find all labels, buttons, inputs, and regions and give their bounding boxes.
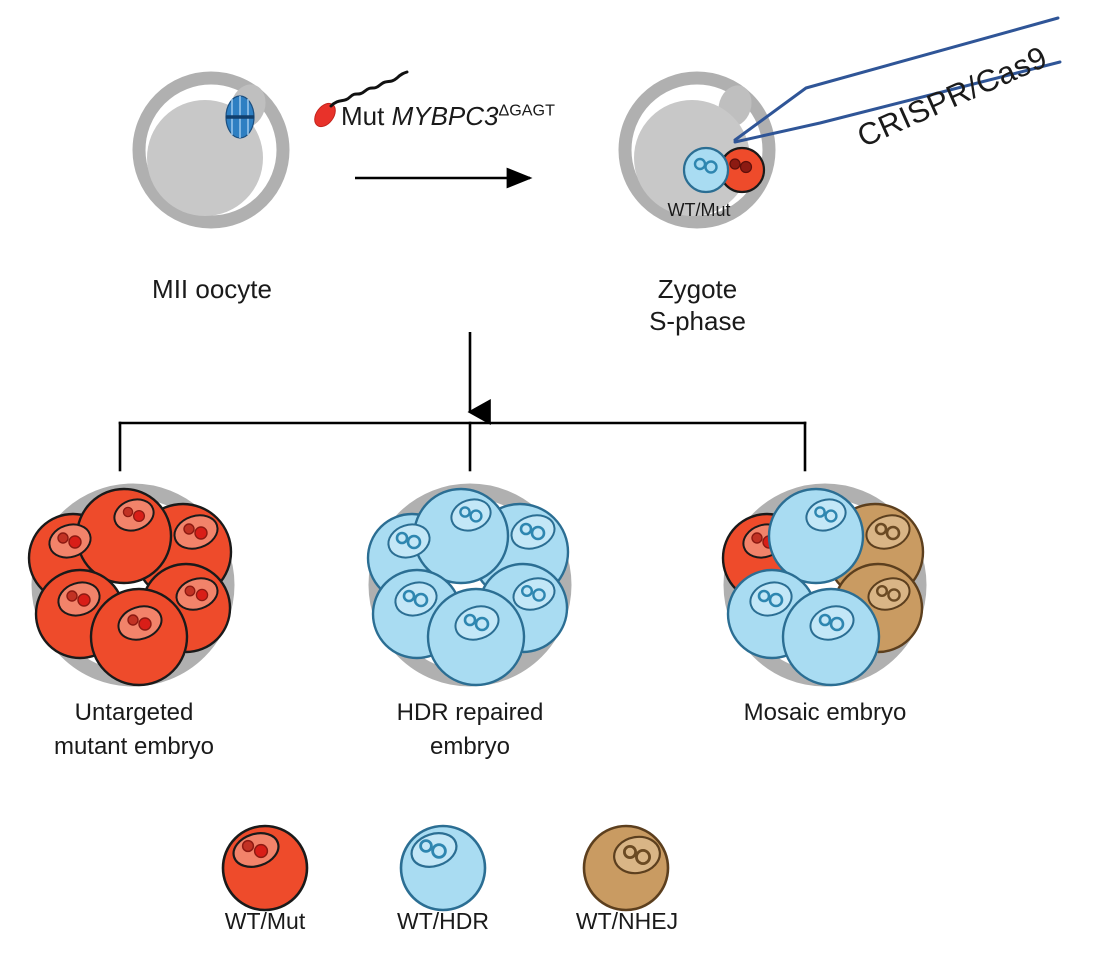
- pronuclei-label: WT/Mut: [634, 200, 764, 221]
- untargeted-caption-line1: Untargeted: [0, 697, 268, 728]
- gene-superscript: ΔGAGT: [499, 101, 555, 119]
- gene-name: MYBPC3: [392, 101, 499, 131]
- figure-canvas: MII oocyte Mut MYBPC3ΔGAGT WT/Mut Zygote…: [0, 0, 1093, 968]
- untargeted-caption-line2: mutant embryo: [0, 731, 268, 762]
- legend-swatch-wt-hdr: [401, 826, 485, 910]
- hdr-caption-line1: HDR repaired: [336, 697, 604, 728]
- embryo-mosaic: [723, 489, 923, 685]
- mii-oocyte-caption: MII oocyte: [0, 274, 424, 305]
- legend-label-wt-hdr: WT/HDR: [363, 908, 523, 935]
- mosaic-caption-line1: Mosaic embryo: [691, 697, 959, 728]
- legend-label-wt-nhej: WT/NHEJ: [543, 908, 711, 935]
- legend-swatch-wt-nhej: [584, 826, 668, 910]
- meiotic-spindle: [226, 96, 254, 138]
- three-way-bracket: [120, 423, 805, 470]
- schematic-svg: [0, 0, 1093, 968]
- embryo-untargeted-mutant: [29, 489, 231, 685]
- legend-symbols: [223, 826, 668, 910]
- zygote-caption-line1: Zygote: [560, 274, 835, 305]
- legend-label-wt-mut: WT/Mut: [185, 908, 345, 935]
- sperm-label-prefix: Mut: [341, 101, 392, 131]
- hdr-caption-line2: embryo: [336, 731, 604, 762]
- legend-swatch-wt-mut: [223, 826, 307, 910]
- zygote-caption-line2: S-phase: [560, 306, 835, 337]
- sperm-mutation-label: Mut MYBPC3ΔGAGT: [341, 101, 555, 132]
- embryo-hdr-repaired: [368, 489, 568, 685]
- mii-oocyte: [139, 78, 283, 222]
